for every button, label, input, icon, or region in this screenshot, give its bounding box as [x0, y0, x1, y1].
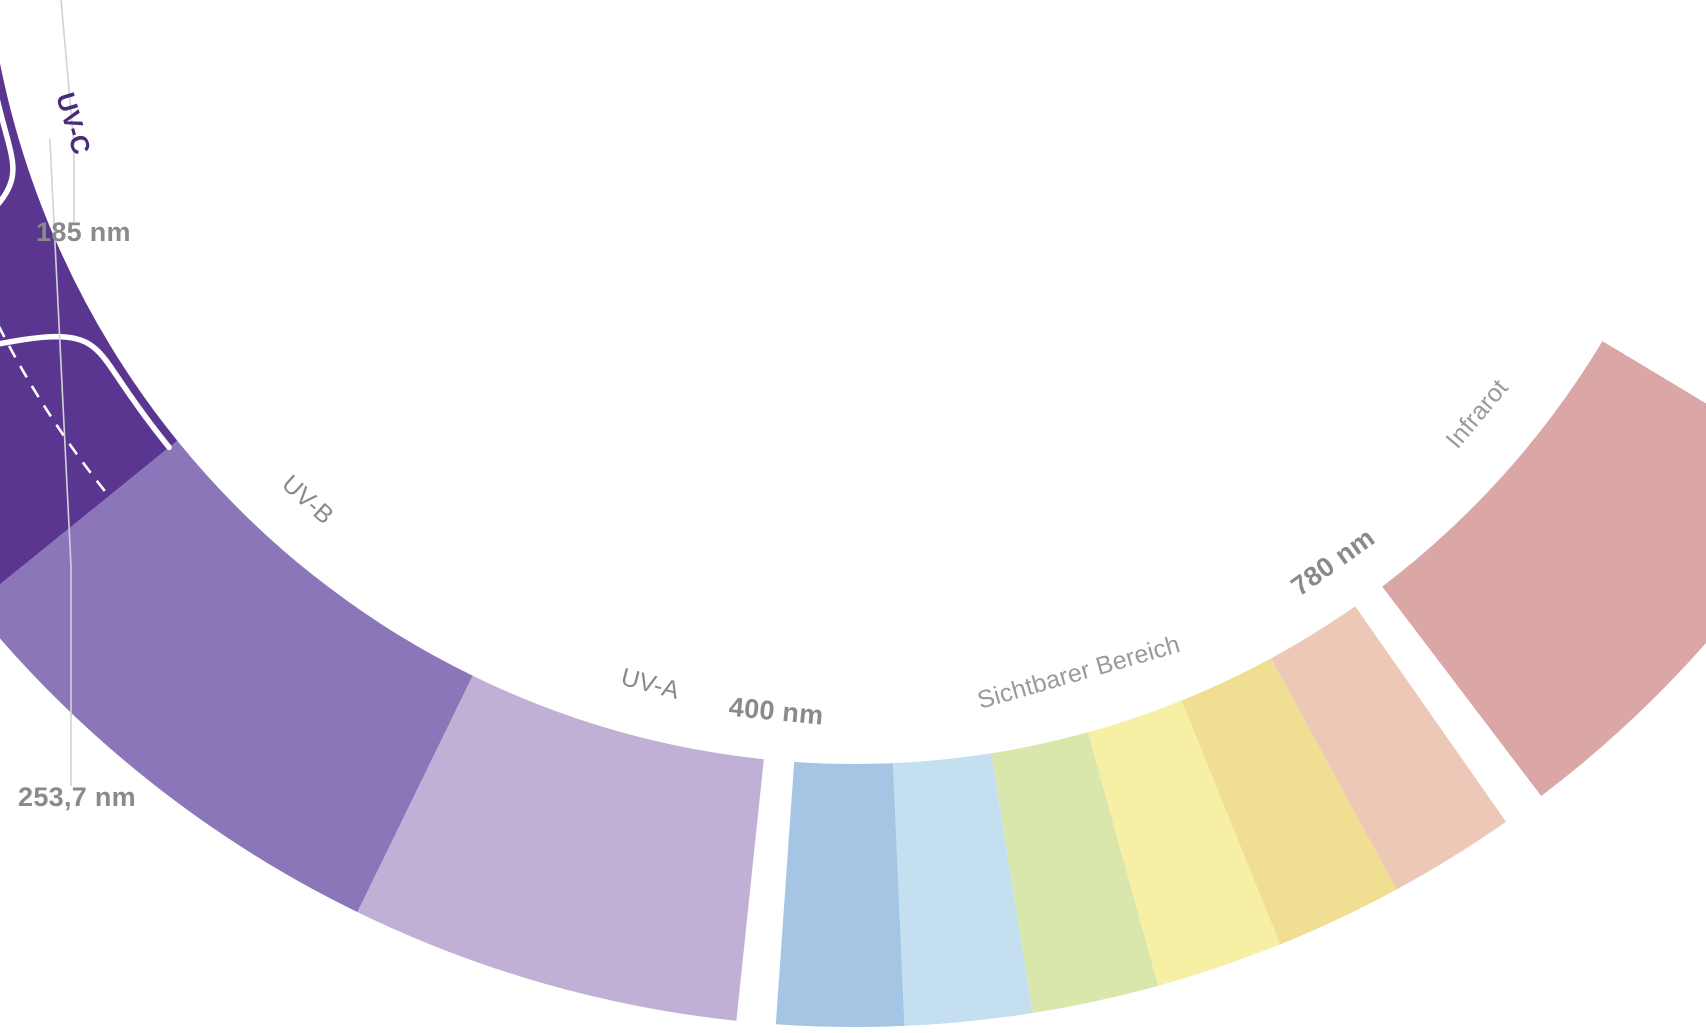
label-uvb: UV-B — [276, 470, 339, 530]
label-uvc: UV-C — [50, 89, 97, 158]
visible-band-blue — [776, 762, 905, 1027]
spectrum-infographic: Ozonbildung UV-C UV-B UV-A Sichtbarer Be… — [0, 0, 1706, 1033]
dashed-guide-185 — [20, 0, 54, 8]
spectrum-arc-svg: Ozonbildung UV-C UV-B UV-A Sichtbarer Be… — [0, 0, 1706, 1033]
arc-segments — [0, 0, 1706, 1027]
segment-ozonbildung-shape — [0, 0, 19, 50]
segment-ozonbildung[interactable] — [0, 0, 19, 50]
wavelength-label-400nm: 400 nm — [728, 692, 825, 731]
wavelength-label-185nm: 185 nm — [36, 217, 131, 247]
label-uva: UV-A — [618, 663, 682, 705]
label-sichtbarer-bereich: Sichtbarer Bereich — [974, 630, 1183, 715]
label-infrarot: Infrarot — [1440, 374, 1513, 454]
wavelength-label-2537nm: 253,7 nm — [18, 782, 136, 812]
segment-sichtbarer-bereich[interactable] — [776, 606, 1506, 1027]
wavelength-label-780nm: 780 nm — [1286, 522, 1381, 602]
